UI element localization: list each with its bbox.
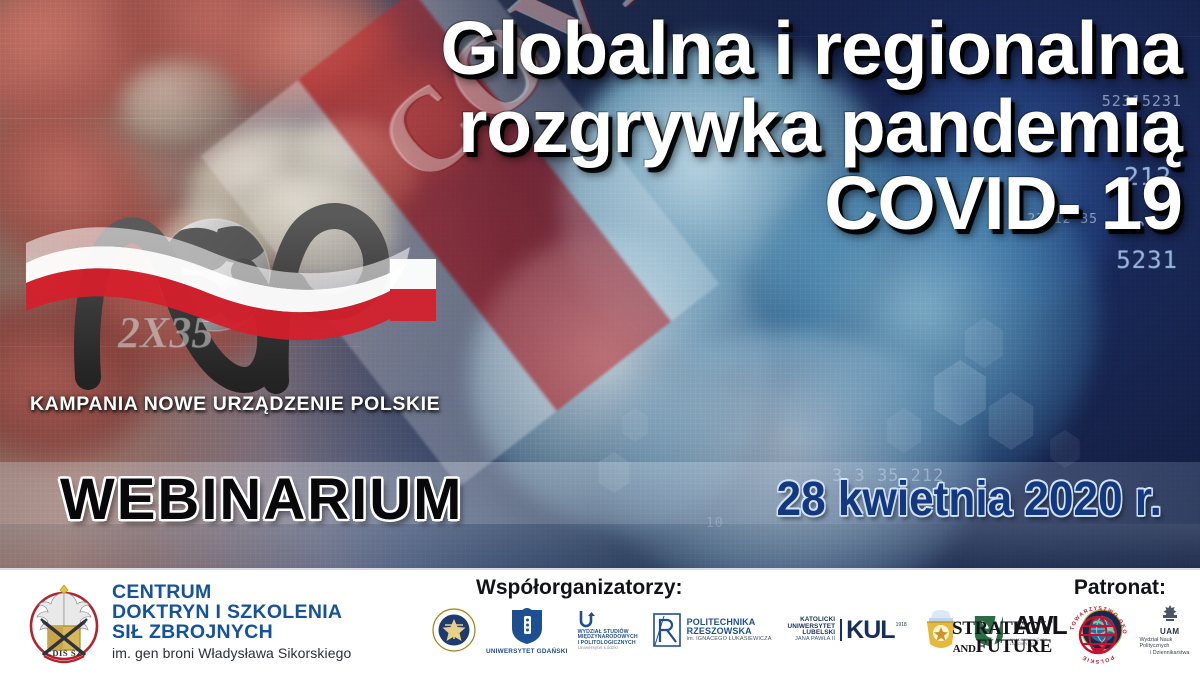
ug-shield-icon: [506, 606, 548, 646]
np-monogram-icon: 2X35: [18, 195, 448, 395]
campaign-logo: 2X35 KAMPANIA NOWE URZĄDZENIE POLSKIE: [18, 195, 448, 440]
coorganizers-heading: Współorganizatorzy:: [476, 576, 683, 600]
organizer-block: CDIS SZ CENTRUM DOKTRYN I SZKOLENIA SIŁ …: [26, 576, 351, 666]
uam-label-2: i Dziennikarstwa: [1150, 650, 1189, 656]
ptg-globe-icon: TOWARZYSTWO GEOPOLITYCZNE POLSKIE: [1067, 604, 1129, 666]
ptg-ring-bottom-label: POLSKIE: [1081, 654, 1115, 665]
kul-mark: KUL: [846, 619, 894, 642]
cdis-emblem-label: CDIS SZ: [46, 648, 83, 658]
patronage-heading: Patronat:: [1074, 576, 1166, 600]
logo-uniwersytet-gdanski: UNIWERSYTET GDAŃSKI: [486, 606, 568, 655]
uam-crest-icon: [1157, 604, 1183, 626]
kul-year: 1918: [896, 622, 907, 628]
asz-woj-emblem-icon: [432, 608, 476, 652]
prz-label-3: im. IGNACEGO ŁUKASIEWICZA: [687, 637, 772, 643]
organizer-line-2: DOKTRYN I SZKOLENIA: [112, 602, 351, 622]
organizer-line-3: SIŁ ZBROJNYCH: [112, 622, 351, 642]
logo-akademia-sztuki-wojennej: [432, 608, 476, 652]
title-line-1: Globalna i regionalna: [302, 12, 1182, 86]
ptg-ring-top-label: TOWARZYSTWO GEOPOLITYCZNE: [1067, 604, 1127, 635]
kul-labels: KATOLICKI UNIWERSYTET LUBELSKI JANA PAWŁ…: [788, 617, 836, 643]
cdis-sz-emblem-icon: CDIS SZ: [26, 576, 102, 666]
kul-label-4: JANA PAWŁA II: [788, 637, 836, 643]
svg-text:TOWARZYSTWO GEOPOLITYCZNE: TOWARZYSTWO GEOPOLITYCZNE: [1067, 604, 1127, 635]
wsmip-labels: WYDZIAŁ STUDIÓW MIĘDZYNARODOWYCH I POLIT…: [578, 630, 638, 651]
campaign-logo-caption: KAMPANIA NOWE URZĄDZENIE POLSKIE: [30, 393, 440, 416]
svg-text:POLSKIE: POLSKIE: [1081, 654, 1115, 665]
logo-polskie-towarzystwo-geopolityczne: TOWARZYSTWO GEOPOLITYCZNE POLSKIE: [1067, 604, 1129, 671]
organizer-subtitle: im. gen broni Władysława Sikorskiego: [112, 646, 351, 661]
event-date: 28 kwietnia 2020 r.: [777, 472, 1162, 527]
prz-mark-icon: [652, 612, 682, 648]
ug-label: UNIWERSYTET GDAŃSKI: [486, 648, 568, 655]
patron-logos: STRATEGY ANDFUTURE TOWARZYSTWO GE: [952, 604, 1129, 671]
wsmip-arrow-icon: [578, 609, 600, 629]
wsmip-label-4: Uniwersytet Łódzki: [578, 646, 638, 651]
webinar-poster: COVID-19 52315231 212 23 12 35 12 2 5231…: [0, 0, 1200, 674]
title-line-2: rozgrywka pandemią: [302, 90, 1182, 164]
bg-number-4: 5231: [1116, 246, 1178, 274]
logo-wydzial-studiow-miedzynarodowych: WYDZIAŁ STUDIÓW MIĘDZYNARODOWYCH I POLIT…: [578, 609, 638, 651]
logo-katolicki-uniwersytet-lubelski: KATOLICKI UNIWERSYTET LUBELSKI JANA PAWŁ…: [788, 617, 907, 643]
webinar-label: WEBINARIUM: [60, 466, 463, 533]
organizer-line-1: CENTRUM: [112, 582, 351, 602]
organizer-name: CENTRUM DOKTRYN I SZKOLENIA SIŁ ZBROJNYC…: [112, 582, 351, 660]
footer: CDIS SZ CENTRUM DOKTRYN I SZKOLENIA SIŁ …: [0, 568, 1200, 674]
uam-label-1: Wydział Nauk Politycznych: [1139, 637, 1200, 649]
sf-line-2b: FUTURE: [976, 636, 1052, 657]
logo-strategy-and-future: STRATEGY ANDFUTURE: [952, 620, 1053, 655]
prz-labels: POLITECHNIKA RZESZOWSKA im. IGNACEGO ŁUK…: [687, 618, 772, 643]
logo-politechnika-rzeszowska: POLITECHNIKA RZESZOWSKA im. IGNACEGO ŁUK…: [652, 612, 772, 648]
sf-line-2a: AND: [953, 643, 976, 655]
uam-mark: UAM: [1160, 627, 1179, 636]
logo-uam-wnpid: UAM Wydział Nauk Politycznych i Dziennik…: [1139, 604, 1200, 656]
